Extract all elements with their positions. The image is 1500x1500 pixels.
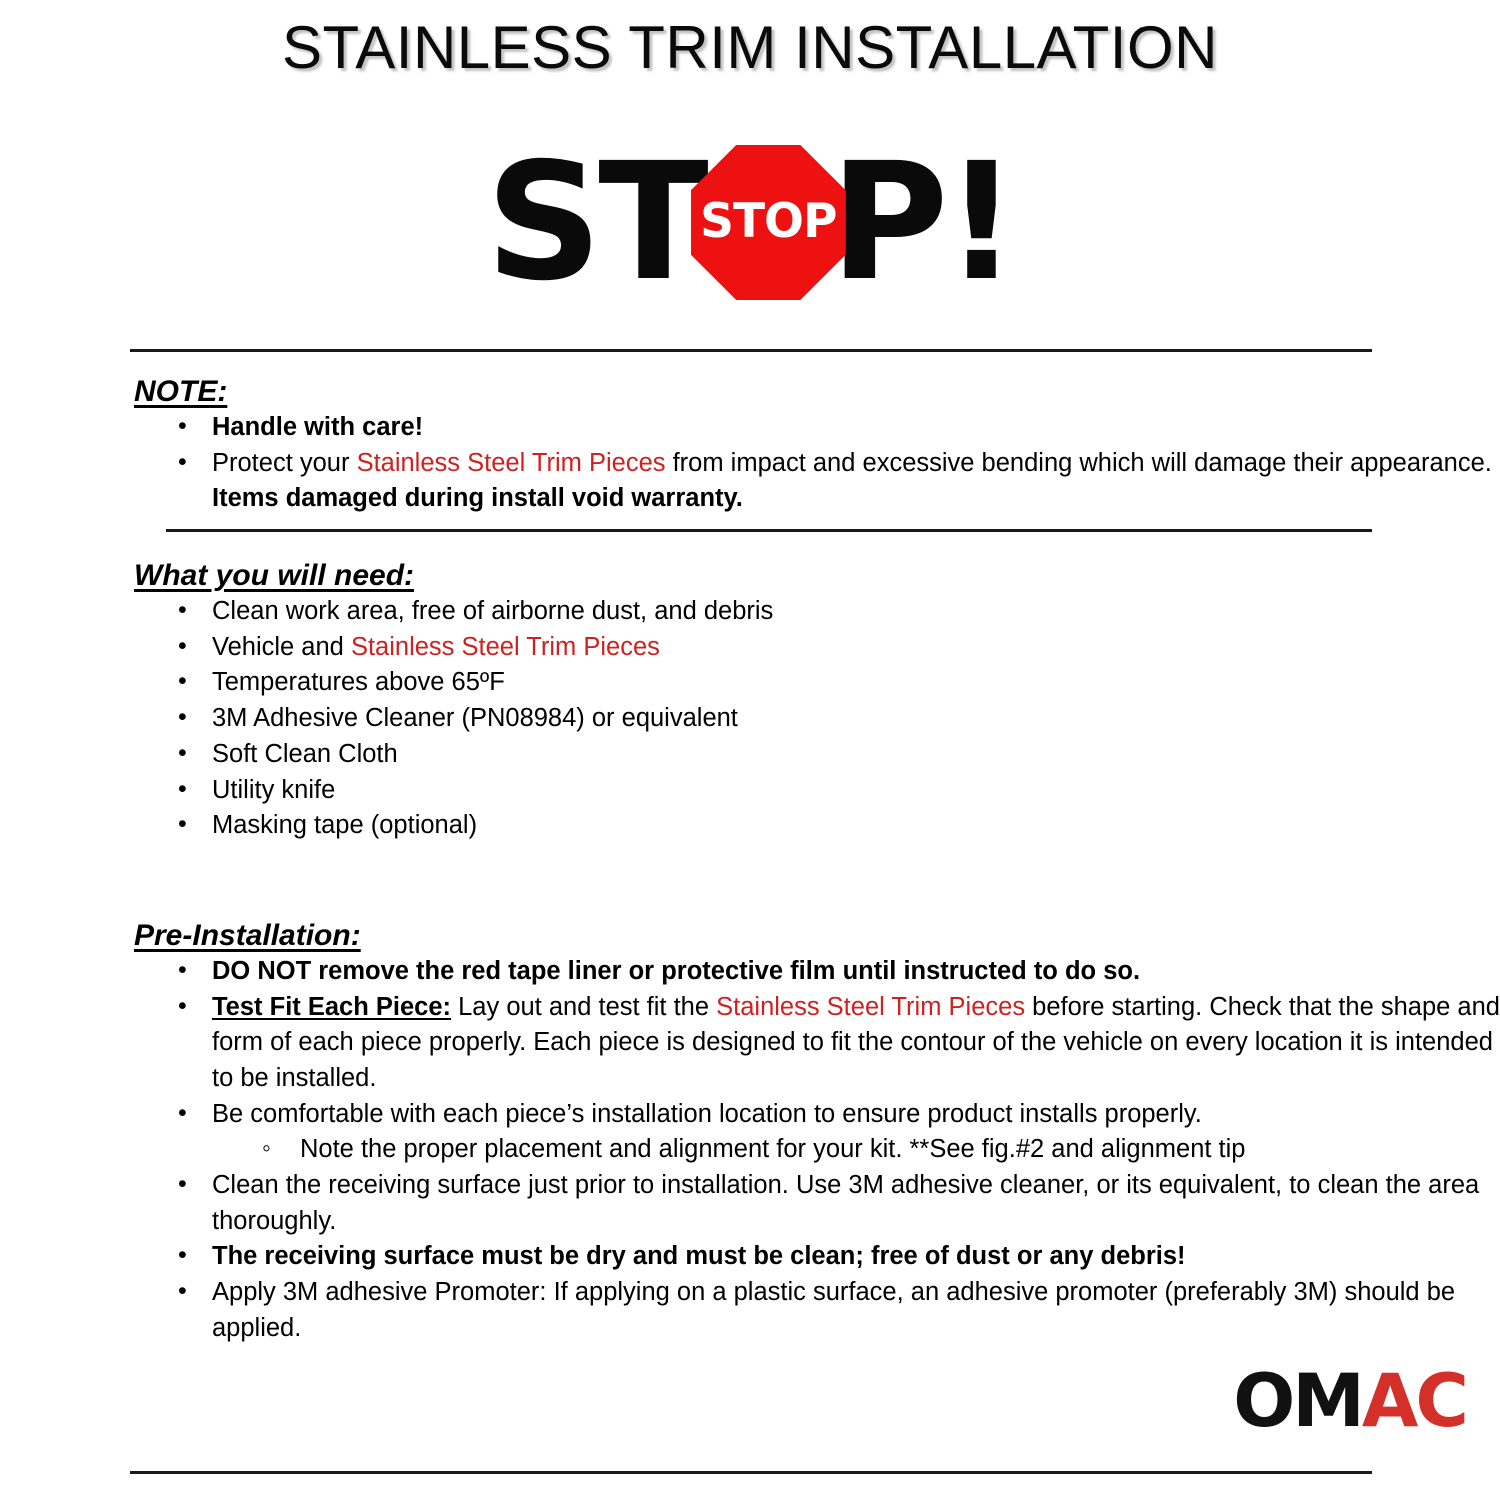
bullet-text-red: Stainless Steel Trim Pieces xyxy=(357,449,666,477)
stop-letters-right: P! xyxy=(830,142,1015,304)
pre-installation-bullet-list: DO NOT remove the red tape liner or prot… xyxy=(0,954,1500,1347)
logo-text-accent: AC xyxy=(1362,1359,1466,1444)
heading-what-you-will-need: What you will need: xyxy=(134,558,1500,594)
bullet-text-bold: Handle with care! xyxy=(212,413,423,441)
bullet-text-red: Stainless Steel Trim Pieces xyxy=(716,993,1025,1021)
stop-sign-label: STOP xyxy=(700,198,836,245)
bullet-text: Apply 3M adhesive Promoter: If applying … xyxy=(212,1278,1455,1342)
bullet-text: Vehicle and xyxy=(212,633,351,661)
stop-letters-left: ST xyxy=(486,142,705,304)
list-item: Vehicle and Stainless Steel Trim Pieces xyxy=(0,630,1500,666)
list-item: Utility knife xyxy=(0,773,1500,809)
heading-note: NOTE: xyxy=(134,374,1500,410)
list-item: 3M Adhesive Cleaner (PN08984) or equival… xyxy=(0,701,1500,737)
list-item: Protect your Stainless Steel Trim Pieces… xyxy=(0,446,1500,517)
bullet-text: Utility knife xyxy=(212,776,335,804)
need-bullet-list: Clean work area, free of airborne dust, … xyxy=(0,594,1500,844)
bullet-text: 3M Adhesive Cleaner (PN08984) or equival… xyxy=(212,704,738,732)
list-item: Handle with care! xyxy=(0,410,1500,446)
logo-text-dark: OM xyxy=(1233,1359,1362,1444)
bullet-text: Temperatures above 65ºF xyxy=(212,668,505,696)
list-item: Temperatures above 65ºF xyxy=(0,665,1500,701)
sub-bullet-list: Note the proper placement and alignment … xyxy=(212,1132,1500,1168)
bullet-text-bold: The receiving surface must be dry and mu… xyxy=(212,1242,1186,1270)
divider-top xyxy=(130,349,1372,352)
omac-logo: OMAC xyxy=(1233,1365,1466,1438)
bullet-text: Masking tape (optional) xyxy=(212,811,477,839)
divider-bottom xyxy=(130,1471,1372,1474)
list-item: Test Fit Each Piece: Lay out and test fi… xyxy=(0,990,1500,1097)
bullet-text: Clean the receiving surface just prior t… xyxy=(212,1171,1479,1235)
bullet-text: Clean work area, free of airborne dust, … xyxy=(212,597,773,625)
bullet-text-bold: DO NOT remove the red tape liner or prot… xyxy=(212,957,1140,985)
bullet-text-bold: Items damaged during install void warran… xyxy=(212,484,743,512)
stop-graphic-container: ST STOP P! xyxy=(0,130,1500,315)
bullet-text: Lay out and test fit the xyxy=(451,993,716,1021)
heading-pre-installation: Pre-Installation: xyxy=(134,918,1500,954)
stop-graphic: ST STOP P! xyxy=(486,135,1015,310)
list-item: Soft Clean Cloth xyxy=(0,737,1500,773)
stop-sign-icon: STOP xyxy=(691,145,846,300)
list-item: DO NOT remove the red tape liner or prot… xyxy=(0,954,1500,990)
bullet-text: Soft Clean Cloth xyxy=(212,740,398,768)
list-item: The receiving surface must be dry and mu… xyxy=(0,1239,1500,1275)
divider-after-note xyxy=(166,529,1372,532)
bullet-text: Be comfortable with each piece’s install… xyxy=(212,1100,1202,1128)
note-bullet-list: Handle with care! Protect your Stainless… xyxy=(0,410,1500,517)
bullet-label-test-fit: Test Fit Each Piece: xyxy=(212,993,451,1021)
list-item: Clean work area, free of airborne dust, … xyxy=(0,594,1500,630)
list-item: Be comfortable with each piece’s install… xyxy=(0,1097,1500,1168)
sub-bullet-text: Note the proper placement and alignment … xyxy=(300,1135,1245,1163)
sub-list-item: Note the proper placement and alignment … xyxy=(212,1132,1500,1168)
bullet-text: from impact and excessive bending which … xyxy=(666,449,1492,477)
list-item: Apply 3M adhesive Promoter: If applying … xyxy=(0,1275,1500,1346)
page-title: STAINLESS TRIM INSTALLATION xyxy=(0,0,1500,78)
bullet-text-red: Stainless Steel Trim Pieces xyxy=(351,633,660,661)
bullet-text: Protect your xyxy=(212,449,357,477)
list-item: Clean the receiving surface just prior t… xyxy=(0,1168,1500,1239)
list-item: Masking tape (optional) xyxy=(0,808,1500,844)
